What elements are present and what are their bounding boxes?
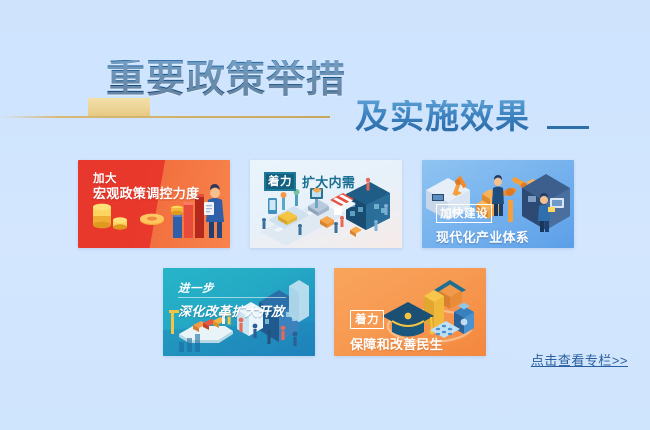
card5-line1: 着力 <box>350 310 384 329</box>
card2-line2: 扩大内需 <box>302 172 355 191</box>
card4-line1: 进一步 <box>178 280 286 296</box>
card3-line2: 现代化产业体系 <box>436 227 529 246</box>
card1-line1: 加大 <box>93 172 199 186</box>
policy-card-reform-opening-label: 进一步 深化改革扩大开放 <box>178 280 286 320</box>
card4-line2: 深化改革扩大开放 <box>178 301 286 320</box>
policy-card-modern-industry-label: 加快建设 现代化产业体系 <box>436 204 529 246</box>
card1-line2: 宏观政策调控力度 <box>93 186 199 202</box>
policy-card-reform-opening[interactable]: 进一步 深化改革扩大开放 <box>163 268 315 356</box>
promo-banner: 重要政策举措 及实施效果 <box>0 0 650 430</box>
policy-card-livelihood[interactable]: 着力 保障和改善民生 <box>334 268 486 356</box>
card3-line1: 加快建设 <box>436 204 492 223</box>
card5-line2: 保障和改善民生 <box>350 334 443 353</box>
policy-card-macro-control-label: 加大 宏观政策调控力度 <box>93 172 199 202</box>
view-column-link[interactable]: 点击查看专栏>> <box>531 350 628 369</box>
policy-card-macro-control[interactable]: 加大 宏观政策调控力度 <box>78 160 230 248</box>
policy-card-expand-demand[interactable]: 着力 扩大内需 <box>250 160 402 248</box>
card2-line1: 着力 <box>264 172 296 191</box>
policy-card-expand-demand-label: 着力 扩大内需 <box>264 172 355 191</box>
policy-card-livelihood-label: 着力 保障和改善民生 <box>350 310 443 353</box>
policy-card-modern-industry[interactable]: 加快建设 现代化产业体系 <box>422 160 574 248</box>
card4-underline <box>178 297 286 298</box>
